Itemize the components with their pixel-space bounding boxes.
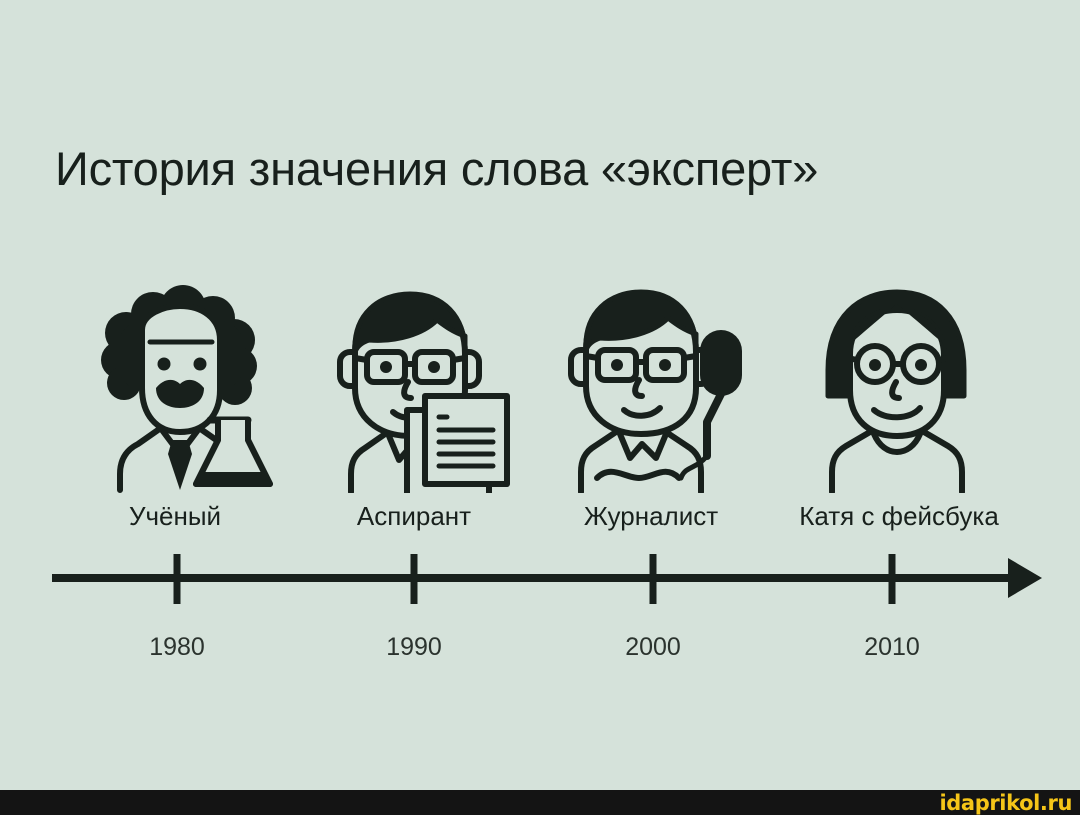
meme-image: История значения слова «эксперт» xyxy=(0,0,1080,815)
woman-with-round-glasses-icon xyxy=(790,278,1005,493)
figure-label-graduate-student: Аспирант xyxy=(314,500,514,532)
year-label-1990: 1990 xyxy=(344,632,484,662)
page-title: История значения слова «эксперт» xyxy=(55,141,1035,197)
journalist-with-microphone-icon xyxy=(545,278,760,493)
figure-label-scientist: Учёный xyxy=(75,500,275,532)
figure-journalist xyxy=(545,278,760,493)
figure-label-journalist: Журналист xyxy=(551,500,751,532)
year-label-2000: 2000 xyxy=(583,632,723,662)
graduate-student-with-papers-icon xyxy=(307,278,522,493)
figure-katya xyxy=(790,278,1005,493)
year-label-2010: 2010 xyxy=(822,632,962,662)
year-label-1980: 1980 xyxy=(107,632,247,662)
scientist-with-flask-icon xyxy=(68,278,283,493)
figure-label-katya: Катя с фейсбука xyxy=(768,500,1030,532)
watermark-text: idaprikol.ru xyxy=(940,791,1073,815)
arrowhead-icon xyxy=(1008,558,1042,598)
watermark-bar xyxy=(0,790,1080,815)
figure-scientist xyxy=(68,278,283,493)
figure-graduate-student xyxy=(307,278,522,493)
